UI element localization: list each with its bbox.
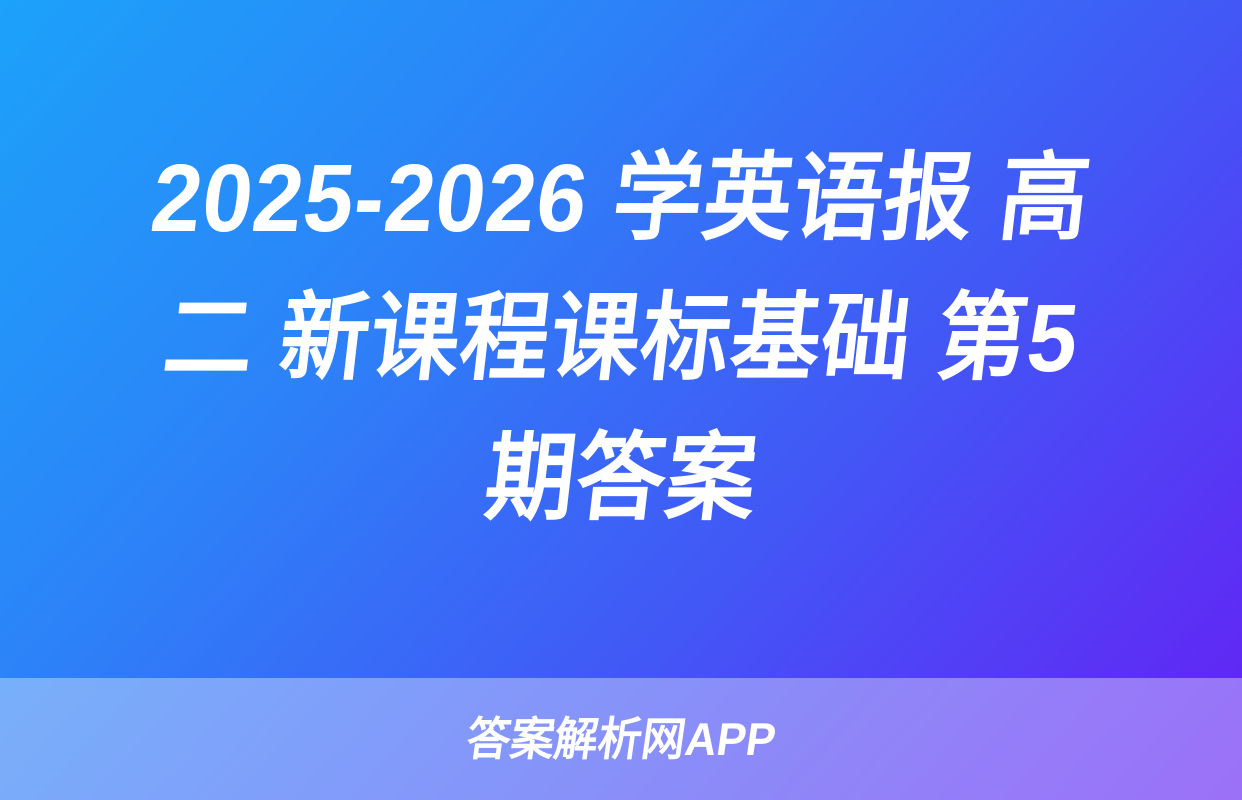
title-line-3: 期答案 <box>478 409 765 549</box>
answer-banner: 2025-2026 学英语报 高 二 新课程课标基础 第5 期答案 答案解析网A… <box>0 0 1242 800</box>
title-block: 2025-2026 学英语报 高 二 新课程课标基础 第5 期答案 <box>0 0 1242 678</box>
page-title: 2025-2026 学英语报 高 二 新课程课标基础 第5 期答案 <box>96 129 1147 549</box>
title-line-2: 二 新课程课标基础 第5 <box>156 269 1086 409</box>
footer-band: 答案解析网APP <box>0 678 1242 800</box>
title-line-1: 2025-2026 学英语报 高 <box>144 129 1098 269</box>
app-watermark: 答案解析网APP <box>464 716 779 762</box>
